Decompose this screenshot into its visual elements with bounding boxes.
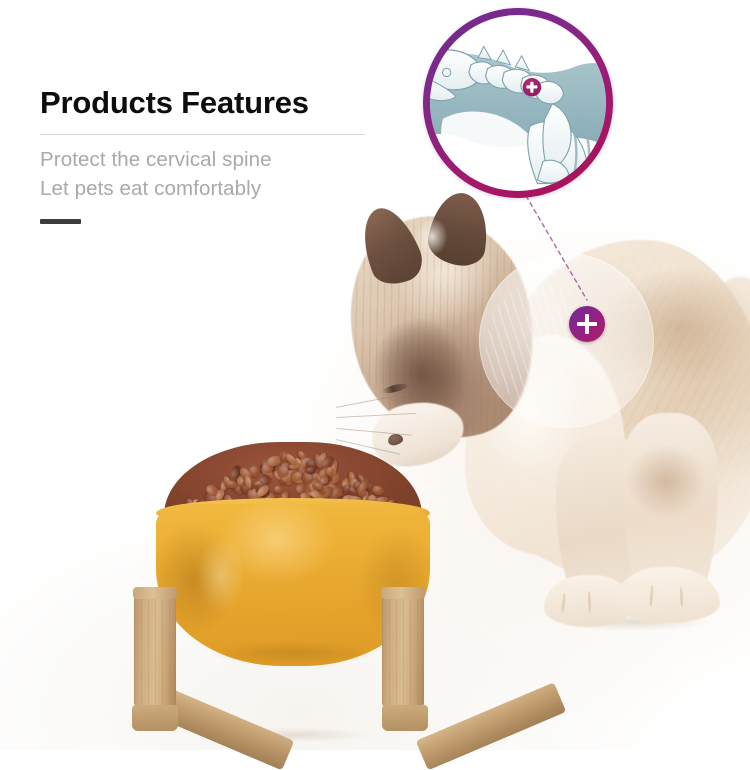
cervical-spine-inset-circle[interactable]	[423, 8, 613, 198]
accent-bar	[40, 219, 81, 224]
stand-wood-grain	[134, 589, 176, 707]
anatomy-diagram	[430, 15, 606, 191]
stand-post-top-left	[133, 587, 177, 599]
bamboo-stand	[120, 575, 440, 735]
headline-block: Products Features Protect the cervical s…	[40, 85, 440, 224]
page-title: Products Features	[40, 85, 440, 121]
title-divider	[40, 134, 365, 135]
stand-foot-right	[382, 705, 428, 731]
stand-post-top-right	[381, 587, 425, 599]
cat-ear-tuft	[414, 219, 450, 263]
subtitle-line-2: Let pets eat comfortably	[40, 175, 440, 202]
subtitle-line-1: Protect the cervical spine	[40, 146, 440, 173]
stand-foot-left	[132, 705, 178, 731]
highlight-swirl-texture	[486, 282, 582, 402]
product-feature-banner: Products Features Protect the cervical s…	[0, 0, 750, 750]
plus-icon[interactable]	[569, 306, 605, 342]
stand-wood-grain	[382, 589, 424, 707]
